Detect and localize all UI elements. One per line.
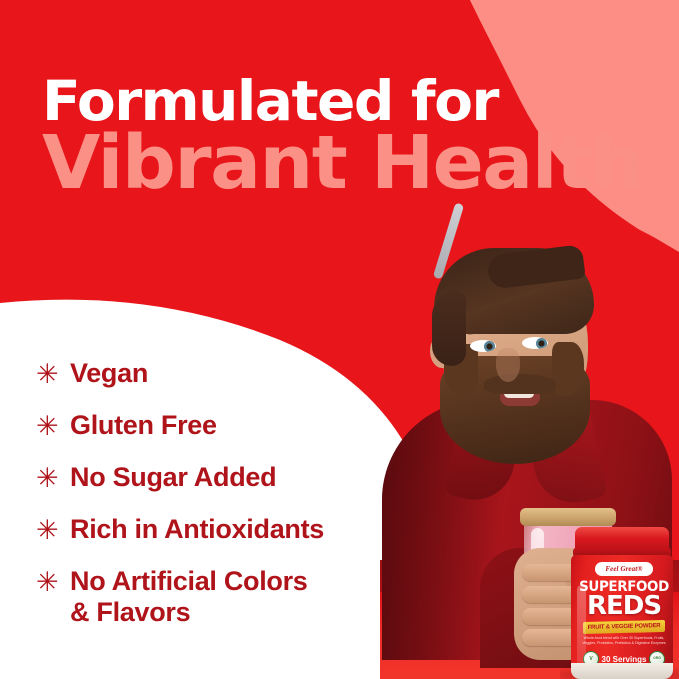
asterisk-icon: ✳ — [36, 569, 70, 596]
jar-label: Feel Great® SUPERFOOD REDS FRUIT & VEGGI… — [571, 555, 673, 679]
benefit-label: No Sugar Added — [70, 462, 276, 493]
iris-left — [484, 341, 495, 352]
hair-side — [432, 292, 466, 366]
brand-badge: Feel Great® — [595, 562, 653, 576]
product-banner-text: FRUIT & VEGGIE POWDER — [588, 623, 661, 631]
product-name-main: REDS — [571, 593, 673, 619]
benefit-label: Rich in Antioxidants — [70, 514, 324, 545]
iris-right — [536, 338, 547, 349]
promo-image-canvas: Formulated for Vibrant Health ✳ Vegan ✳ … — [0, 0, 679, 679]
jar-base — [571, 663, 673, 679]
benefit-label: Vegan — [70, 358, 148, 389]
mustache — [484, 374, 556, 394]
product-description: Whole-food blend with Over 30 Superfoods… — [581, 636, 667, 647]
brand-name: Feel Great® — [605, 565, 642, 573]
headline-line-2: Vibrant Health — [42, 129, 674, 197]
bamboo-lid — [520, 508, 616, 526]
benefit-label: Gluten Free — [70, 410, 217, 441]
list-item: ✳ No Sugar Added — [36, 462, 416, 493]
list-item: ✳ Vegan — [36, 358, 416, 389]
eye-right — [522, 337, 548, 349]
asterisk-icon: ✳ — [36, 465, 70, 492]
benefit-label: No Artificial Colors & Flavors — [70, 566, 308, 628]
asterisk-icon: ✳ — [36, 517, 70, 544]
headline-block: Formulated for Vibrant Health — [42, 76, 662, 197]
benefits-list: ✳ Vegan ✳ Gluten Free ✳ No Sugar Added ✳… — [36, 358, 416, 628]
beard-sideburn-right — [552, 342, 584, 396]
list-item: ✳ No Artificial Colors & Flavors — [36, 566, 416, 628]
asterisk-icon: ✳ — [36, 361, 70, 388]
nose — [496, 348, 520, 382]
product-banner: FRUIT & VEGGIE POWDER — [583, 620, 665, 634]
asterisk-icon: ✳ — [36, 413, 70, 440]
list-item: ✳ Gluten Free — [36, 410, 416, 441]
eye-left — [470, 340, 496, 352]
list-item: ✳ Rich in Antioxidants — [36, 514, 416, 545]
product-jar[interactable]: Feel Great® SUPERFOOD REDS FRUIT & VEGGI… — [569, 527, 675, 679]
